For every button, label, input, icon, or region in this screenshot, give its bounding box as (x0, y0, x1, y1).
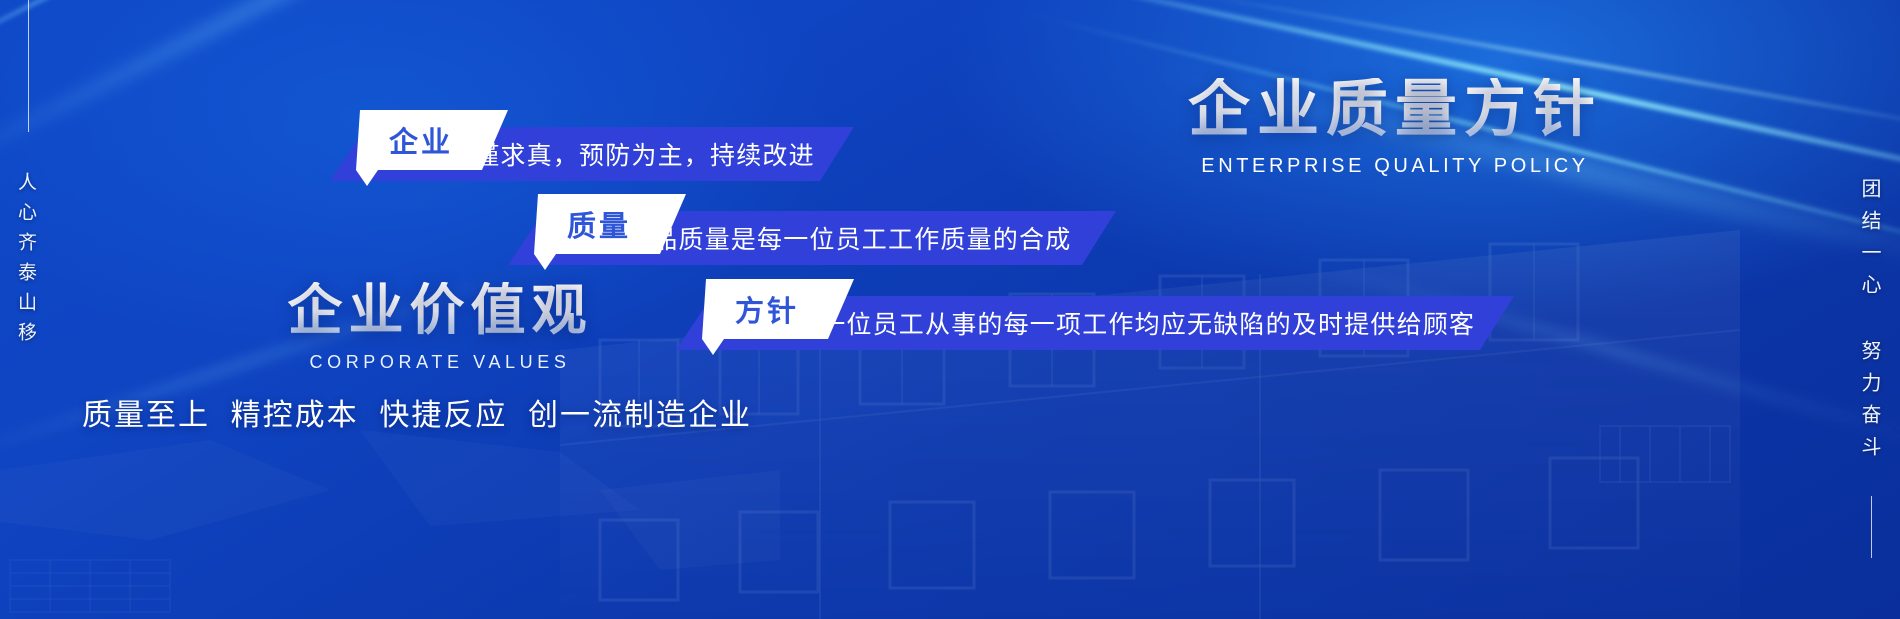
policy-row-tag-label: 质量 (563, 203, 631, 245)
policy-row-tag: 方针 (676, 279, 854, 339)
values-tagline: 质量至上 精控成本 快捷反应 创一流制造企业 (82, 390, 752, 434)
tag-notch-icon (356, 170, 378, 186)
policy-subtitle: ENTERPRISE QUALITY POLICY (1055, 155, 1735, 178)
light-streak-icon (1279, 250, 1900, 453)
policy-row-tag: 企业 (330, 110, 508, 170)
policy-row-text: 每一位员工从事的每一项工作均应无缺陷的及时提供给顾客 (794, 305, 1475, 341)
policy-row-text: 产品质量是每一位员工工作质量的合成 (626, 220, 1071, 256)
policy-title: 企业质量方针 (1055, 78, 1735, 141)
policy-row-tag-label: 方针 (731, 288, 799, 330)
policy-row-tag: 质量 (508, 194, 686, 254)
values-heading-block: 企业价值观 CORPORATE VALUES (190, 282, 690, 373)
left-divider-rule (28, 0, 29, 132)
policy-row-tag-label: 企业 (385, 119, 453, 161)
tag-notch-icon (534, 254, 556, 270)
ground-texture-image (0, 430, 780, 619)
light-streak-icon (0, 0, 801, 115)
right-vertical-slogan: 团结一心 努力奋斗 (1855, 178, 1884, 468)
values-subtitle: CORPORATE VALUES (190, 352, 690, 373)
policy-row-text: 严谨求真，预防为主，持续改进 (448, 136, 815, 172)
policy-heading-block: 企业质量方针 ENTERPRISE QUALITY POLICY (1055, 78, 1735, 178)
banner-root: 人心齐泰山移 团结一心 努力奋斗 企业质量方针 ENTERPRISE QUALI… (0, 0, 1900, 619)
left-vertical-slogan: 人心齐泰山移 (12, 172, 39, 352)
right-divider-rule (1871, 496, 1872, 558)
values-title: 企业价值观 (190, 282, 690, 340)
tag-notch-icon (702, 339, 724, 355)
